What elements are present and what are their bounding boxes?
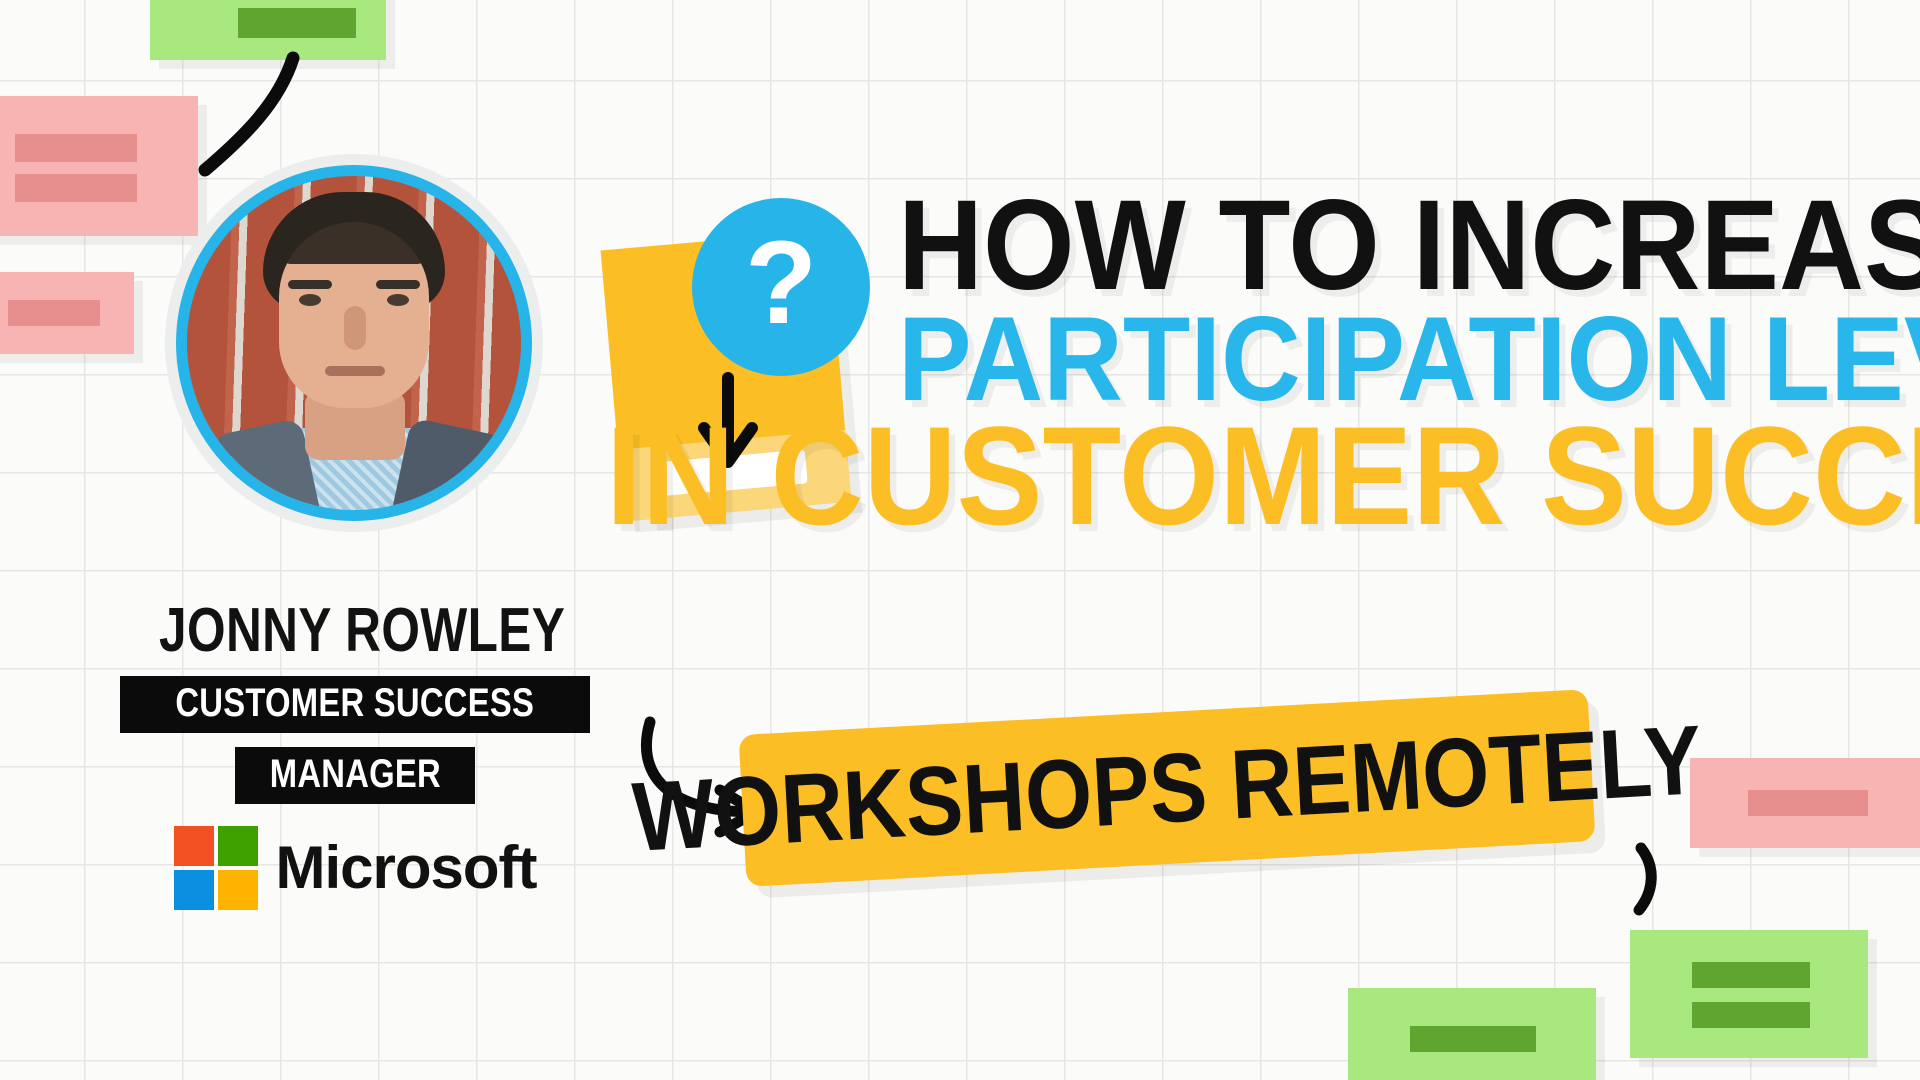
speaker-role-tag-1: CUSTOMER SUCCESS xyxy=(120,676,589,733)
speaker-role-line-2-wrap: MANAGER xyxy=(110,747,600,804)
headline-line-1: HOW TO INCREASE xyxy=(898,190,1820,303)
sticky-card-bar xyxy=(1748,790,1868,816)
sticky-card-bar xyxy=(15,134,137,162)
sticky-card-pink-right xyxy=(1690,758,1920,848)
sticky-card-green-bottom-right xyxy=(1630,930,1868,1058)
microsoft-square-bottom-left xyxy=(174,870,214,910)
avatar-portrait xyxy=(187,176,521,510)
comma-squiggle-icon xyxy=(1615,840,1675,920)
sticky-card-bar xyxy=(1410,1026,1536,1052)
speaker-role-line-1: CUSTOMER SUCCESS xyxy=(176,683,535,723)
speaker-name: JONNY ROWLEY xyxy=(159,600,551,662)
sticky-card-green-bottom-mid xyxy=(1348,988,1596,1080)
microsoft-square-bottom-right xyxy=(218,870,258,910)
sticky-card-bar xyxy=(238,8,356,38)
speaker-role-tag-2: MANAGER xyxy=(235,747,476,804)
banner-text: WORKSHOPS REMOTELY xyxy=(630,710,1704,866)
headline-block: HOW TO INCREASE PARTICIPATION LEVEL IN C… xyxy=(600,190,1900,537)
speaker-role-line-1-wrap: CUSTOMER SUCCESS xyxy=(110,676,600,733)
sticky-card-bar xyxy=(1692,962,1810,988)
company-name: Microsoft xyxy=(276,838,537,898)
microsoft-square-top-right xyxy=(218,826,258,866)
microsoft-squares-icon xyxy=(174,826,258,910)
avatar-photo xyxy=(187,176,521,510)
sticky-card-bar xyxy=(8,300,100,326)
headline-line-3: IN CUSTOMER SUCCESS xyxy=(606,414,1796,537)
company-logo: Microsoft xyxy=(110,826,600,910)
sticky-card-bar xyxy=(15,174,137,202)
sticky-card-green-top-left xyxy=(150,0,386,60)
speaker-role-line-2: MANAGER xyxy=(269,754,440,794)
sticky-card-bar xyxy=(1692,1002,1810,1028)
sticky-card-pink-left-small xyxy=(0,272,134,354)
speaker-info: JONNY ROWLEY CUSTOMER SUCCESS MANAGER Mi… xyxy=(110,600,600,910)
thumbnail-canvas: ? HOW TO INCREASE PARTICIPATION LEVEL IN… xyxy=(0,0,1920,1080)
avatar xyxy=(165,154,543,532)
microsoft-square-top-left xyxy=(174,826,214,866)
